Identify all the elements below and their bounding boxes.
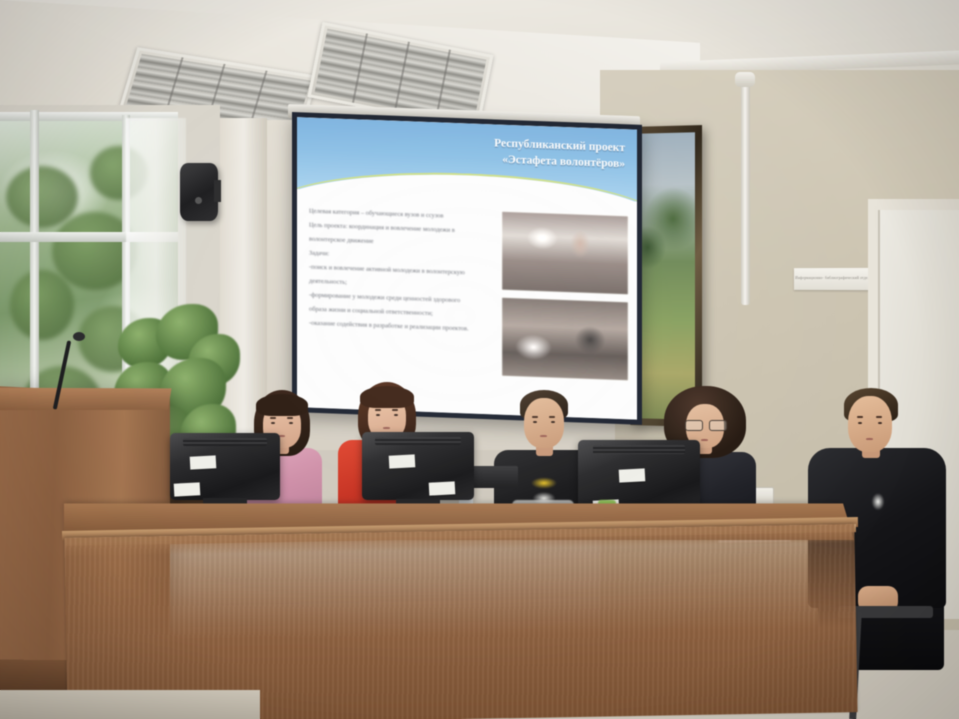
wall-pipe <box>741 75 750 305</box>
wall-speaker-icon <box>180 163 218 221</box>
hair-front <box>256 394 308 416</box>
floor <box>0 690 260 719</box>
polo-emblem <box>864 490 892 516</box>
wall-plaque: Информационно- библиографический отдел <box>794 268 871 290</box>
photo-stage-presentation <box>501 211 629 296</box>
av-equipment-box <box>472 466 518 488</box>
head <box>524 398 564 448</box>
presentation-slide: Республиканский проект «Эстафета волонтё… <box>297 117 637 419</box>
hair-front <box>360 386 414 408</box>
wall-pipe-cap <box>735 72 755 87</box>
photo-group-activity <box>501 297 629 382</box>
slide-body-text: Целевая категория – обучающиеся вузов и … <box>309 206 494 339</box>
lectern-top <box>0 388 171 411</box>
head <box>848 396 892 452</box>
speaker-logo <box>195 197 202 204</box>
painting-canvas <box>637 132 695 419</box>
wall-plaque-text: Информационно- библиографический отдел <box>795 276 869 281</box>
microphone-head-icon <box>73 332 85 341</box>
speaker-bracket <box>214 180 221 202</box>
conference-room-photo: Информационно- библиографический отдел Р… <box>0 0 959 719</box>
eyeglasses-icon <box>685 420 725 429</box>
slide-photo-group <box>501 211 627 388</box>
projection-surface: Республиканский проект «Эстафета волонтё… <box>297 117 637 419</box>
projector-screen: Республиканский проект «Эстафета волонтё… <box>292 112 642 425</box>
